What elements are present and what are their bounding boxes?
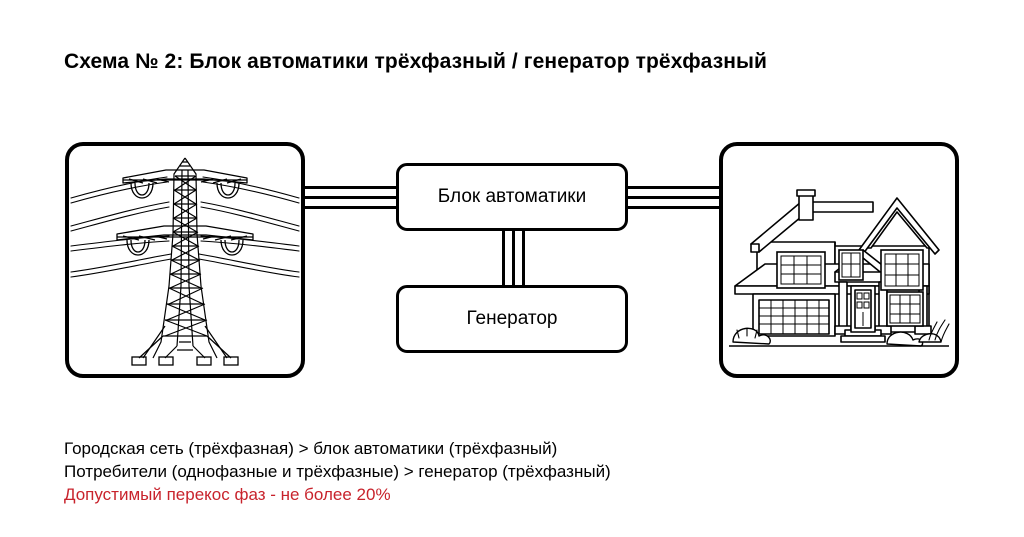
panel-city-grid: [65, 142, 305, 378]
wire-vertical-phase-3: [522, 229, 525, 287]
wire-vertical-phase-2: [512, 229, 515, 287]
wire-left-phase-3: [303, 206, 398, 209]
house-icon: [723, 146, 955, 374]
panel-consumers-house: [719, 142, 959, 378]
box-generator-unit[interactable]: Генератор: [396, 285, 628, 353]
caption-line-1: Городская сеть (трёхфазная) > блок автом…: [64, 437, 964, 460]
caption-warning: Допустимый перекос фаз - не более 20%: [64, 483, 964, 506]
wire-left-phase-2: [303, 196, 398, 199]
wire-vertical-phase-1: [502, 229, 505, 287]
power-transmission-tower-icon: [69, 146, 301, 374]
page-title: Схема № 2: Блок автоматики трёхфазный / …: [64, 50, 767, 74]
caption-block: Городская сеть (трёхфазная) > блок автом…: [64, 437, 964, 506]
wire-right-phase-1: [626, 186, 721, 189]
box-automation-label: Блок автоматики: [438, 186, 586, 208]
diagram-page: Схема № 2: Блок автоматики трёхфазный / …: [0, 0, 1024, 537]
box-generator-label: Генератор: [467, 308, 558, 330]
wire-right-phase-2: [626, 196, 721, 199]
caption-line-2: Потребители (однофазные и трёхфазные) > …: [64, 460, 964, 483]
box-automation-unit[interactable]: Блок автоматики: [396, 163, 628, 231]
wire-right-phase-3: [626, 206, 721, 209]
wire-left-phase-1: [303, 186, 398, 189]
